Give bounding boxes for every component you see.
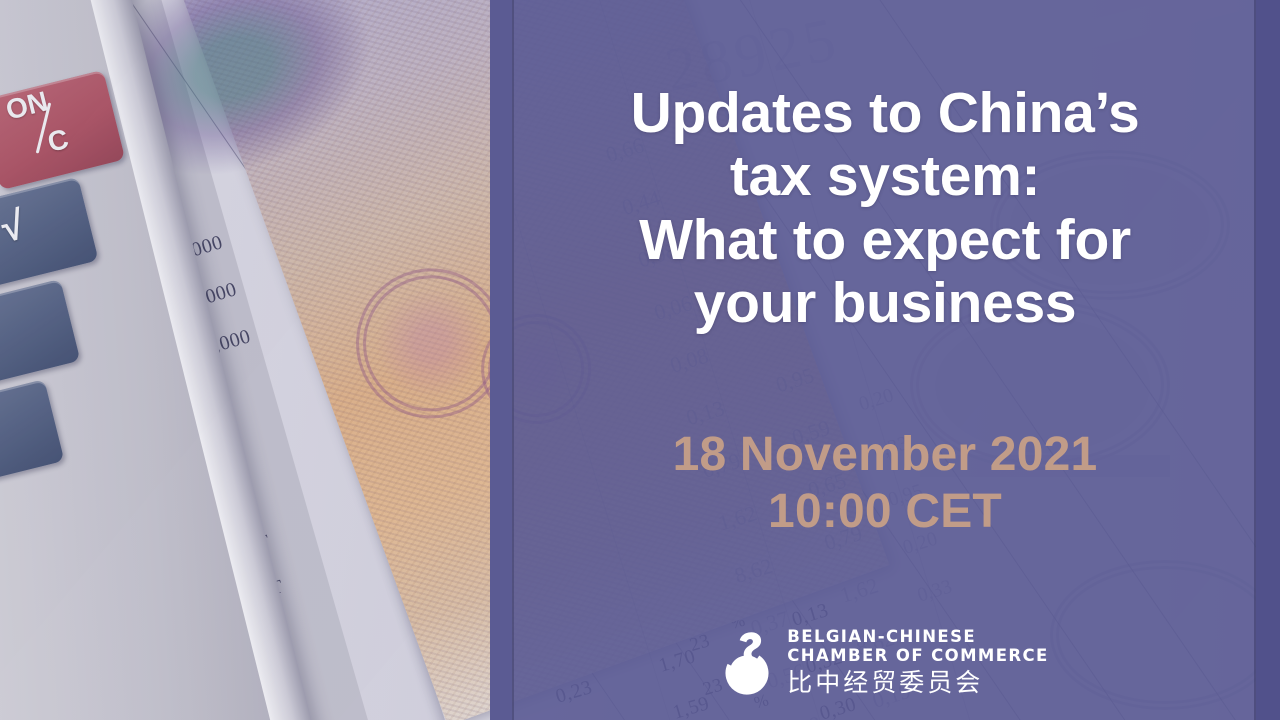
logo-chinese-name: 比中经贸委员会 [787, 669, 1048, 697]
panel-content: Updates to China’s tax system: What to e… [490, 0, 1280, 720]
promotional-slide: 1,000 3,000 2,000 SZT Szt SZT SZT SZT SZ… [0, 0, 1280, 720]
event-time: 10:00 CET [555, 484, 1215, 541]
title-line-3: What to expect for [565, 209, 1205, 272]
slide-title: Updates to China’s tax system: What to e… [565, 82, 1205, 335]
logo-text-block: BELGIAN-CHINESE CHAMBER OF COMMERCE 比中经贸… [787, 628, 1048, 696]
event-datetime: 18 November 2021 10:00 CET [555, 427, 1215, 540]
title-line-1: Updates to China’s [565, 82, 1205, 145]
event-date: 18 November 2021 [555, 427, 1215, 484]
purple-overlay-panel: 0,66 0,44 0,08 0,06 0,08 0,13 0,79 1,62 … [490, 0, 1280, 720]
title-line-4: your business [565, 272, 1205, 335]
title-line-2: tax system: [565, 145, 1205, 208]
organization-logo: BELGIAN-CHINESE CHAMBER OF COMMERCE 比中经贸… [490, 628, 1280, 696]
bccc-monogram-icon [721, 629, 771, 695]
logo-line-2: CHAMBER OF COMMERCE [787, 647, 1048, 665]
logo-line-1: BELGIAN-CHINESE [787, 628, 1048, 646]
